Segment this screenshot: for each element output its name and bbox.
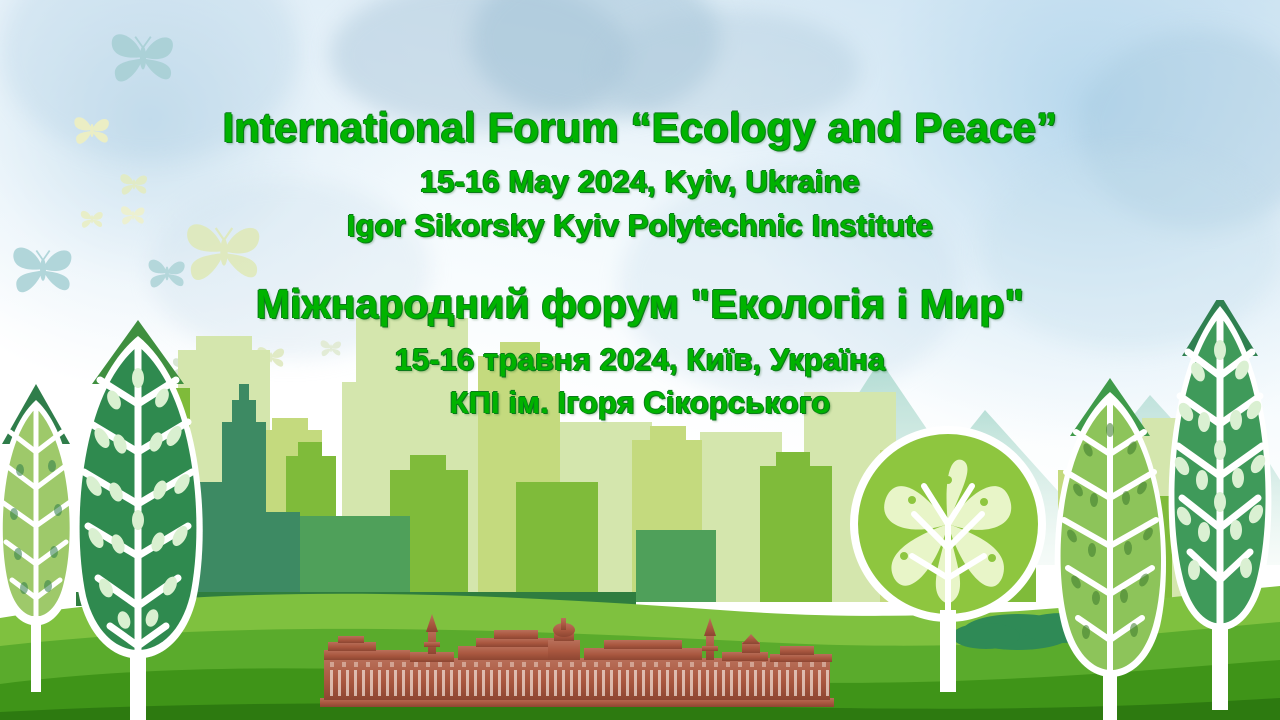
butterfly-icon bbox=[78, 205, 106, 233]
butterfly-icon bbox=[104, 18, 182, 96]
butterfly-icon bbox=[144, 250, 190, 296]
kpi-main-building bbox=[318, 612, 838, 712]
cloud-icon bbox=[600, 10, 860, 130]
butterfly-icon bbox=[118, 200, 148, 230]
butterfly-icon bbox=[6, 232, 80, 306]
butterfly-icon bbox=[70, 108, 114, 152]
butterfly-icon bbox=[117, 167, 151, 201]
butterfly-icon bbox=[178, 205, 270, 297]
forum-banner: International Forum “Ecology and Peace” … bbox=[0, 0, 1280, 720]
